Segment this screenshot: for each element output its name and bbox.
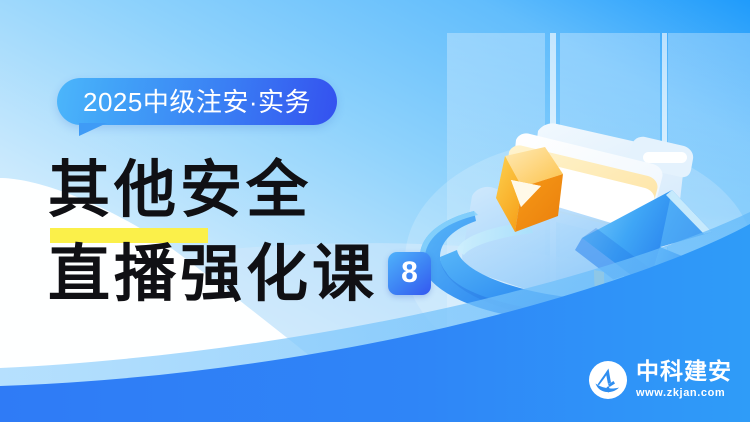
brand-logo: 中科建安 www.zkjan.com bbox=[588, 360, 732, 400]
logo-company-name: 中科建安 bbox=[636, 360, 732, 384]
episode-number: 8 bbox=[401, 258, 418, 288]
headline-line-1: 其他安全 bbox=[48, 156, 312, 224]
course-category-badge: 2025中级注安·实务 bbox=[57, 78, 337, 125]
episode-number-badge: 8 bbox=[388, 252, 431, 295]
headline-line-2-row: 直播强化课 8 bbox=[48, 238, 431, 310]
course-cover-banner: 2025中级注安·实务 其他安全 直播强化课 8 中科建安 www.zkjan.… bbox=[0, 0, 750, 422]
badge-tail-icon bbox=[79, 123, 107, 136]
logo-text-block: 中科建安 www.zkjan.com bbox=[636, 360, 732, 400]
headline-line-1-row: 其他安全 bbox=[48, 152, 431, 224]
headline-block: 其他安全 直播强化课 8 bbox=[48, 152, 431, 310]
zkjan-circle-logo-icon bbox=[588, 360, 628, 400]
badge-label: 2025中级注安·实务 bbox=[83, 89, 311, 115]
badge-pill: 2025中级注安·实务 bbox=[57, 78, 337, 125]
headline-line-2: 直播强化课 bbox=[48, 240, 378, 308]
logo-website-url: www.zkjan.com bbox=[636, 386, 732, 400]
